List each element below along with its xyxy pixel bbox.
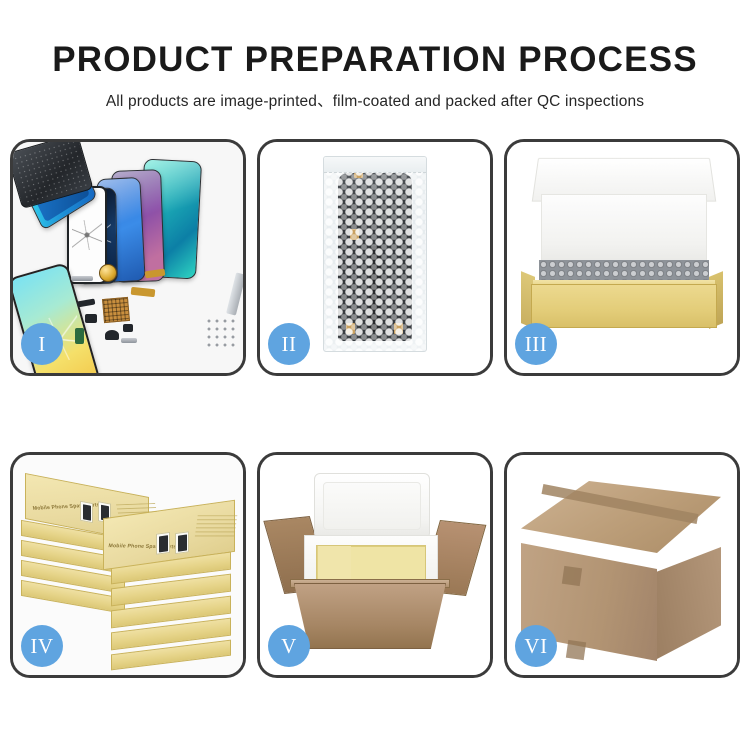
part-bracket-icon bbox=[121, 338, 137, 343]
chip-grid-icon bbox=[102, 297, 130, 323]
part-speaker-icon bbox=[105, 330, 119, 340]
step-badge-label: V bbox=[281, 634, 297, 659]
step-badge-label: III bbox=[525, 332, 547, 357]
process-step-5[interactable]: V bbox=[257, 452, 493, 678]
step-badge-5: V bbox=[268, 625, 310, 667]
tweezers-icon bbox=[226, 272, 243, 315]
carton-side-icon bbox=[657, 547, 721, 659]
part-camera-icon bbox=[85, 314, 97, 323]
step-badge-label: I bbox=[38, 332, 46, 357]
part-sensor-icon bbox=[123, 324, 133, 332]
page-title: PRODUCT PREPARATION PROCESS bbox=[0, 0, 750, 77]
bubbles-texture-secondary bbox=[324, 157, 426, 351]
step-badge-2: II bbox=[268, 323, 310, 365]
process-step-1[interactable]: I bbox=[10, 139, 246, 376]
step-badge-label: IV bbox=[30, 634, 53, 659]
part-board-icon bbox=[75, 328, 84, 344]
process-step-2[interactable]: II bbox=[257, 139, 493, 376]
box-front-icon bbox=[531, 284, 717, 328]
page-subtitle: All products are image-printed、film-coat… bbox=[0, 77, 750, 111]
bag-seal-icon bbox=[324, 157, 426, 173]
process-step-3[interactable]: III bbox=[504, 139, 740, 376]
step-badge-3: III bbox=[515, 323, 557, 365]
carton-tape-1-icon bbox=[562, 566, 582, 586]
step-badge-4: IV bbox=[21, 625, 63, 667]
step-badge-label: II bbox=[282, 332, 297, 357]
step-badge-6: VI bbox=[515, 625, 557, 667]
carton-body-icon bbox=[294, 583, 446, 649]
bubble-wrap-bag-illustration bbox=[323, 156, 427, 352]
part-silver-strip-icon bbox=[71, 276, 93, 281]
vibration-motor-icon bbox=[99, 264, 117, 282]
screws-icon bbox=[205, 317, 237, 351]
process-step-4[interactable]: Mobile Phone Spare Parts Mobile Phone Sp… bbox=[10, 452, 246, 678]
process-step-grid: I II bbox=[10, 139, 740, 679]
step-badge-1: I bbox=[21, 323, 63, 365]
part-connector-icon bbox=[77, 298, 96, 307]
process-step-6[interactable]: VI bbox=[504, 452, 740, 678]
part-flex-cable-2-icon bbox=[131, 287, 156, 297]
step-badge-label: VI bbox=[524, 634, 547, 659]
carton-tape-2-icon bbox=[566, 640, 586, 660]
page-header: PRODUCT PREPARATION PROCESS All products… bbox=[0, 0, 750, 111]
foam-sheet-icon bbox=[541, 194, 707, 266]
styrofoam-lid-icon bbox=[314, 473, 430, 539]
